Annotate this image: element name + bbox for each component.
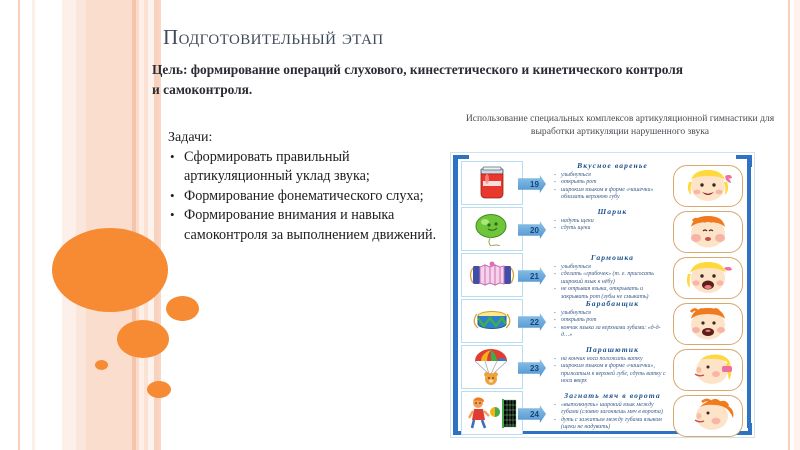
figure-caption: Использование специальных комплексов арт… <box>455 112 785 138</box>
redhead-boy-profile-blowing-face <box>673 395 743 437</box>
decorative-bubble-medium <box>117 320 169 358</box>
list-item: Формирование фонематического слуха; <box>168 187 440 206</box>
step-number: 22 <box>530 318 539 327</box>
exercise-steps: на кончик носа положить ватку широким яз… <box>554 356 671 386</box>
step-number-badge: 21 <box>523 267 551 285</box>
redhead-boy-tongue-up-face <box>673 303 743 345</box>
blonde-girl-profile-blowing-face <box>673 349 743 391</box>
exercise-rows: 19 Вкусное варенье улыбнуться открыть ро… <box>461 161 743 427</box>
redhead-boy-puffed-cheeks-face <box>673 211 743 253</box>
list-item: сдуть щеки <box>554 225 671 232</box>
parachute-bear-picture <box>461 345 523 389</box>
drum-picture <box>461 299 523 343</box>
balloon-picture <box>461 207 523 251</box>
step-number: 20 <box>530 226 539 235</box>
list-item: улыбнуться <box>554 310 671 317</box>
slide-canvas: Подготовительный этап Цель: формирование… <box>0 0 800 450</box>
exercise-title: Гармошка <box>554 253 671 263</box>
list-item: Формирование внимания и навыка самоконтр… <box>168 206 440 245</box>
step-number-badge: 20 <box>523 221 551 239</box>
list-item: «вытолкнуть» широкий язык между губами (… <box>554 402 671 417</box>
step-number: 21 <box>530 272 539 281</box>
list-item: сделать «грибочек» (т. е. присосать широ… <box>554 271 671 286</box>
step-number-badge: 22 <box>523 313 551 331</box>
exercise-steps: надуть щеки сдуть щеки <box>554 218 671 233</box>
blonde-girl-open-mouth-face <box>673 257 743 299</box>
blonde-girl-licking-lip-face <box>673 165 743 207</box>
list-item: широким языком в форме «чашечки» облизат… <box>554 187 671 202</box>
list-item: кончик языка за верхними зубами: «д-д-д…… <box>554 325 671 340</box>
exercise-text: Парашютик на кончик носа положить ватку … <box>551 345 673 386</box>
table-row: 19 Вкусное варенье улыбнуться открыть ро… <box>461 161 743 205</box>
articulation-gymnastics-figure: 19 Вкусное варенье улыбнуться открыть ро… <box>450 152 755 438</box>
table-row: 24 Загнать мяч в ворота «вытолкнуть» шир… <box>461 391 743 435</box>
list-item: улыбнуться <box>554 172 671 179</box>
step-number-badge: 19 <box>523 175 551 193</box>
tasks-block: Задачи: Сформировать правильный артикуля… <box>168 128 440 245</box>
right-stripe-decoration-outer <box>794 0 800 450</box>
page-title: Подготовительный этап <box>163 24 723 50</box>
table-row: 21 Гармошка улыбнуться сделать «грибочек… <box>461 253 743 297</box>
exercise-text: Шарик надуть щеки сдуть щеки <box>551 207 673 233</box>
list-item: открыть рот <box>554 317 671 324</box>
step-number: 19 <box>530 180 539 189</box>
step-number-badge: 23 <box>523 359 551 377</box>
goal-paragraph: Цель: формирование операций слухового, к… <box>152 60 692 100</box>
jam-jar-picture <box>461 161 523 205</box>
decorative-bubble-xsmall <box>147 381 171 398</box>
list-item: открыть рот <box>554 179 671 186</box>
decorative-bubble-small <box>166 296 199 321</box>
exercise-text: Барабанщик улыбнуться открыть рот кончик… <box>551 299 673 340</box>
list-item: широким языком в форме «чашечки», прижат… <box>554 363 671 385</box>
exercise-title: Загнать мяч в ворота <box>554 391 671 401</box>
tasks-heading: Задачи: <box>168 128 440 147</box>
exercise-text: Вкусное варенье улыбнуться открыть рот ш… <box>551 161 673 202</box>
exercise-steps: «вытолкнуть» широкий язык между губами (… <box>554 402 671 432</box>
exercise-title: Барабанщик <box>554 299 671 309</box>
step-number-badge: 24 <box>523 405 551 423</box>
exercise-steps: улыбнуться открыть рот широким языком в … <box>554 172 671 202</box>
tasks-list: Сформировать правильный артикуляционный … <box>168 148 440 245</box>
table-row: 20 Шарик надуть щеки сдуть щеки <box>461 207 743 251</box>
exercise-steps: улыбнуться сделать «грибочек» (т. е. при… <box>554 264 671 301</box>
table-row: 22 Барабанщик улыбнуться открыть рот кон… <box>461 299 743 343</box>
boy-ball-goal-picture <box>461 391 523 435</box>
exercise-title: Парашютик <box>554 345 671 355</box>
exercise-title: Шарик <box>554 207 671 217</box>
step-number: 24 <box>530 410 539 419</box>
scan-bar-left <box>453 158 458 432</box>
exercise-text: Загнать мяч в ворота «вытолкнуть» широки… <box>551 391 673 432</box>
left-stripe-decoration <box>0 0 160 450</box>
list-item: дуть с зажатым между губами языком (щеки… <box>554 417 671 432</box>
decorative-bubble-tiny <box>95 360 108 370</box>
right-stripe-decoration <box>788 0 790 450</box>
scan-bar-right <box>747 158 751 428</box>
exercise-text: Гармошка улыбнуться сделать «грибочек» (… <box>551 253 673 301</box>
table-row: 23 Парашютик на кончик носа положить ват… <box>461 345 743 389</box>
exercise-title: Вкусное варенье <box>554 161 671 171</box>
list-item: Сформировать правильный артикуляционный … <box>168 148 440 187</box>
exercise-steps: улыбнуться открыть рот кончик языка за в… <box>554 310 671 340</box>
step-number: 23 <box>530 364 539 373</box>
decorative-bubble-large <box>52 228 168 312</box>
accordion-picture <box>461 253 523 297</box>
